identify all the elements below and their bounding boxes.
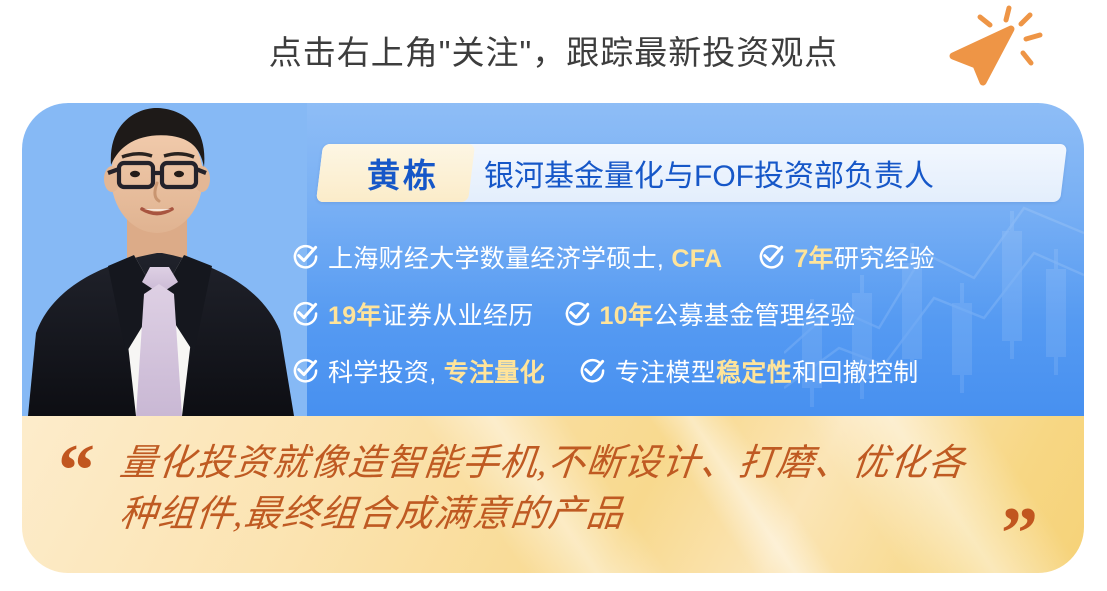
credential-highlight: 19年 xyxy=(328,302,382,330)
credential-plain: 科学投资, xyxy=(328,359,444,387)
check-circle-icon xyxy=(292,357,319,384)
credential-highlight: 7年 xyxy=(794,245,834,273)
credential-plain: 上海财经大学数量经济学硕士, xyxy=(328,245,671,273)
credential-label: 科学投资, 专注量化 xyxy=(328,353,545,389)
cursor-arrow-sparkle-icon xyxy=(945,4,1055,94)
credential-item: 10年公募基金管理经验 xyxy=(564,296,856,332)
quote-line-1: 量化投资就像造智能手机,不断设计、打磨、优化各 xyxy=(117,438,1052,489)
credential-plain: 研究经验 xyxy=(834,245,935,273)
portrait-photo xyxy=(22,103,307,416)
check-circle-icon xyxy=(292,243,319,270)
quote-open-mark: “ xyxy=(58,434,95,508)
person-name: 黄栋 xyxy=(338,144,468,202)
credential-item: 19年证券从业经历 xyxy=(292,296,534,332)
header-title: 点击右上角"关注"，跟踪最新投资观点 xyxy=(269,26,838,74)
quote-panel: “ 量化投资就像造智能手机,不断设计、打磨、优化各 种组件,最终组合成满意的产品… xyxy=(22,416,1084,573)
credentials-list: 上海财经大学数量经济学硕士, CFA7年研究经验19年证券从业经历10年公募基金… xyxy=(292,228,1092,399)
credential-row: 上海财经大学数量经济学硕士, CFA7年研究经验 xyxy=(292,228,1092,285)
credential-highlight: 专注量化 xyxy=(444,359,545,387)
credential-plain: 专注模型 xyxy=(615,359,716,387)
check-circle-icon xyxy=(579,357,606,384)
header-banner: 点击右上角"关注"，跟踪最新投资观点 xyxy=(0,0,1107,100)
credential-plain: 和回撤控制 xyxy=(792,359,919,387)
credential-highlight: CFA xyxy=(671,245,722,273)
portrait-illustration xyxy=(22,103,307,416)
person-title: 银河基金量化与FOF投资部负责人 xyxy=(484,144,934,202)
credential-label: 10年公募基金管理经验 xyxy=(600,296,856,332)
credential-label: 19年证券从业经历 xyxy=(328,296,534,332)
quote-line-2: 种组件,最终组合成满意的产品 xyxy=(117,489,1052,540)
credential-plain: 公募基金管理经验 xyxy=(653,302,855,330)
credential-item: 上海财经大学数量经济学硕士, CFA xyxy=(292,239,722,275)
credential-row: 科学投资, 专注量化专注模型稳定性和回撤控制 xyxy=(292,342,1092,399)
check-circle-icon xyxy=(758,243,785,270)
credential-item: 专注模型稳定性和回撤控制 xyxy=(579,353,919,389)
credential-label: 专注模型稳定性和回撤控制 xyxy=(615,353,919,389)
check-circle-icon xyxy=(292,300,319,327)
credential-label: 上海财经大学数量经济学硕士, CFA xyxy=(328,239,722,275)
credential-highlight: 10年 xyxy=(600,302,654,330)
name-title-bar: 黄栋 银河基金量化与FOF投资部负责人 xyxy=(316,144,1060,202)
check-circle-icon xyxy=(564,300,591,327)
credential-highlight: 稳定性 xyxy=(716,359,792,387)
quote-close-mark: ” xyxy=(1001,497,1038,571)
credential-item: 科学投资, 专注量化 xyxy=(292,353,545,389)
quote-text: 量化投资就像造智能手机,不断设计、打磨、优化各 种组件,最终组合成满意的产品 xyxy=(120,438,1050,540)
credential-label: 7年研究经验 xyxy=(794,239,935,275)
credential-row: 19年证券从业经历10年公募基金管理经验 xyxy=(292,285,1092,342)
credential-plain: 证券从业经历 xyxy=(382,302,534,330)
credential-item: 7年研究经验 xyxy=(758,239,935,275)
